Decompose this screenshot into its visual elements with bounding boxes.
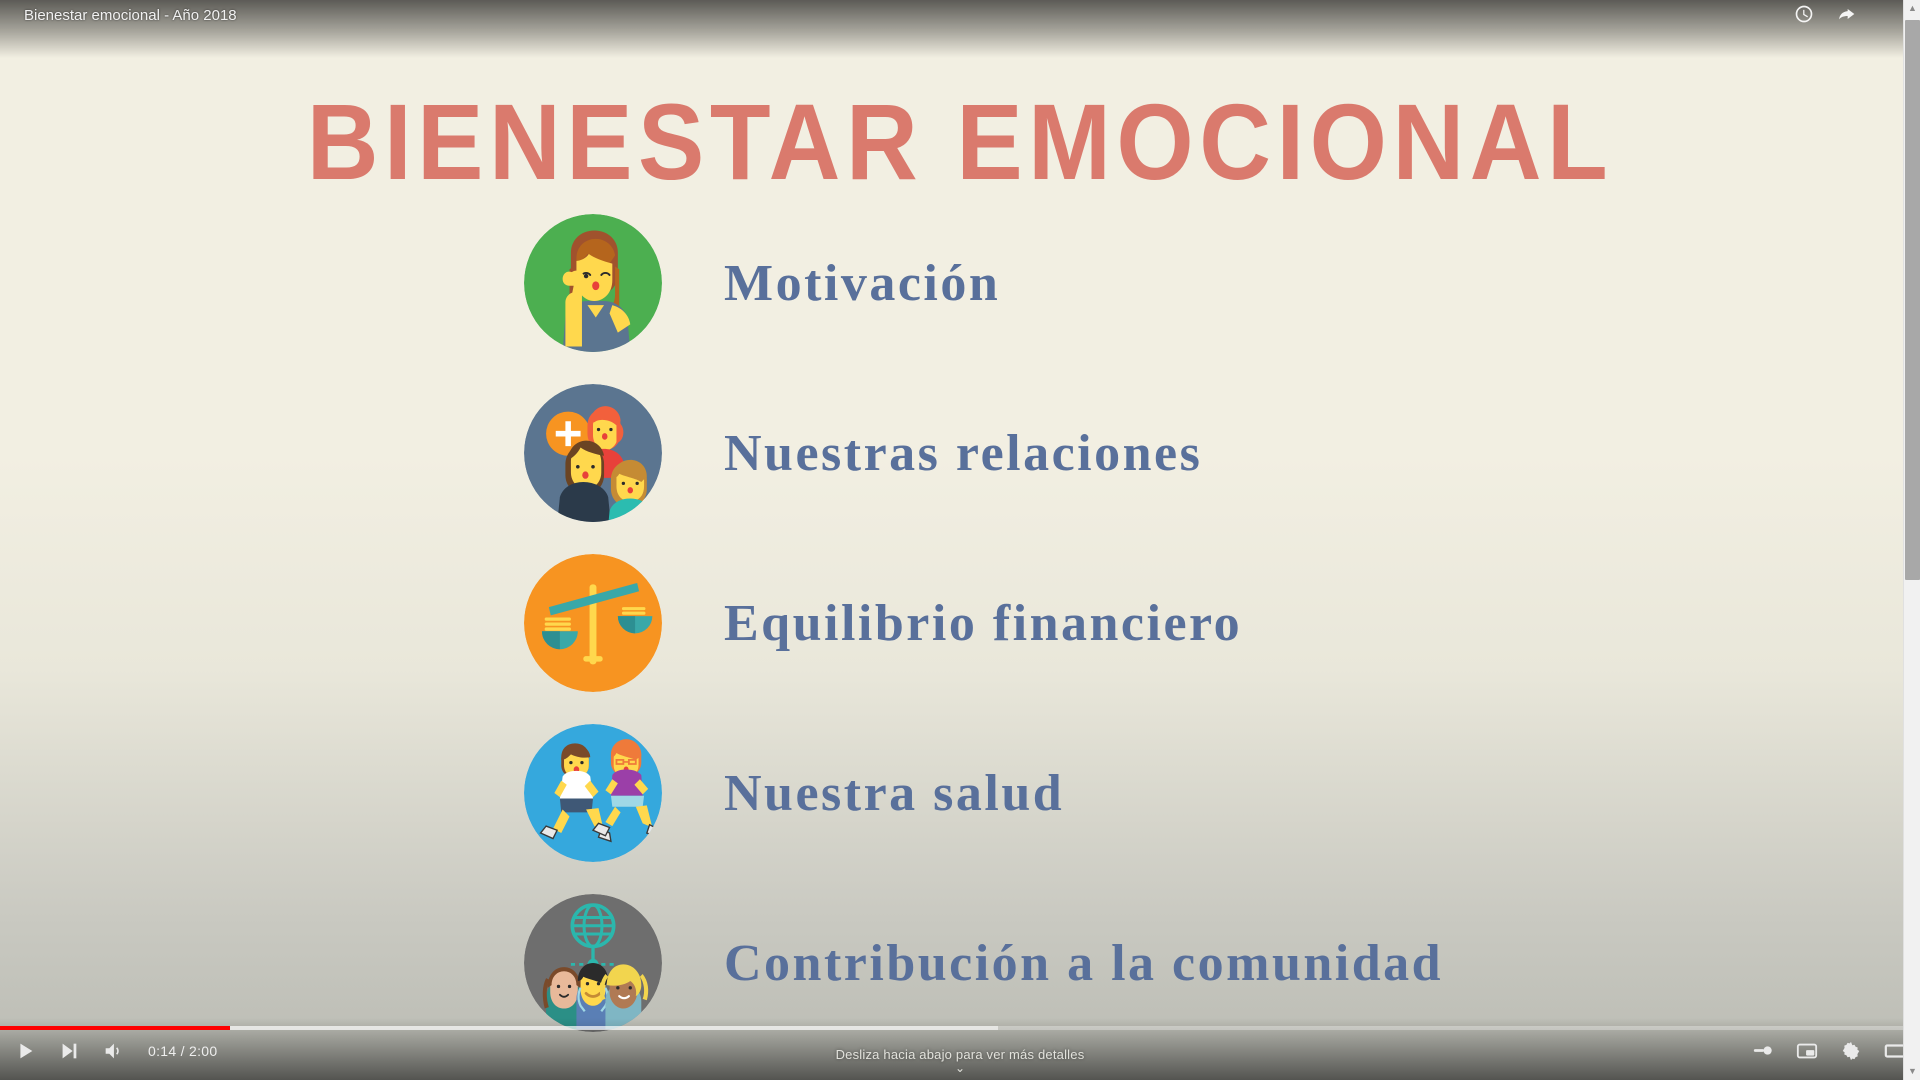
watch-later-icon[interactable] <box>1794 4 1814 24</box>
scrollbar-thumb[interactable] <box>1905 20 1920 580</box>
time-display: 0:14 / 2:00 <box>148 1043 217 1059</box>
player-controls-right <box>1752 1040 1906 1062</box>
list-item: Motivación <box>524 198 1824 368</box>
subtitles-icon[interactable] <box>1752 1040 1774 1062</box>
thumbs-up-woman-icon <box>524 214 662 352</box>
video-player-page: BIENESTAR EMOCIONAL <box>0 0 1920 1080</box>
list-item-label: Nuestra salud <box>724 764 1064 823</box>
next-button[interactable] <box>58 1040 80 1062</box>
gear-icon[interactable] <box>1840 1040 1862 1062</box>
page-scrollbar[interactable]: ▲ ▼ <box>1903 0 1920 1080</box>
volume-button[interactable] <box>102 1040 124 1062</box>
miniplayer-icon[interactable] <box>1796 1040 1818 1062</box>
balance-scale-coins-icon <box>524 554 662 692</box>
scroll-up-arrow[interactable]: ▲ <box>1904 0 1920 17</box>
progress-played <box>0 1026 230 1030</box>
player-controls-left: 0:14 / 2:00 <box>14 1040 217 1062</box>
share-icon[interactable] <box>1836 4 1856 24</box>
group-of-people-plus-icon <box>524 384 662 522</box>
topic-list: Motivación <box>524 198 1824 1048</box>
progress-bar[interactable] <box>0 1026 1920 1030</box>
player-top-actions <box>1794 4 1856 24</box>
scroll-down-arrow[interactable]: ▼ <box>1904 1063 1920 1080</box>
list-item-label: Nuestras relaciones <box>724 424 1202 483</box>
slide-canvas: BIENESTAR EMOCIONAL <box>0 0 1920 1080</box>
running-people-icon <box>524 724 662 862</box>
play-button[interactable] <box>14 1040 36 1062</box>
player-bottom-bar: 0:14 / 2:00 <box>0 1018 1920 1080</box>
list-item-label: Equilibrio financiero <box>724 594 1242 653</box>
globe-network-people-icon <box>524 894 662 1032</box>
list-item: Nuestras relaciones <box>524 368 1824 538</box>
page-title: BIENESTAR EMOCIONAL <box>77 88 1843 196</box>
video-title: Bienestar emocional - Año 2018 <box>24 7 237 24</box>
list-item-label: Contribución a la comunidad <box>724 934 1443 993</box>
list-item-label: Motivación <box>724 254 1000 313</box>
list-item: Equilibrio financiero <box>524 538 1824 708</box>
list-item: Nuestra salud <box>524 708 1824 878</box>
